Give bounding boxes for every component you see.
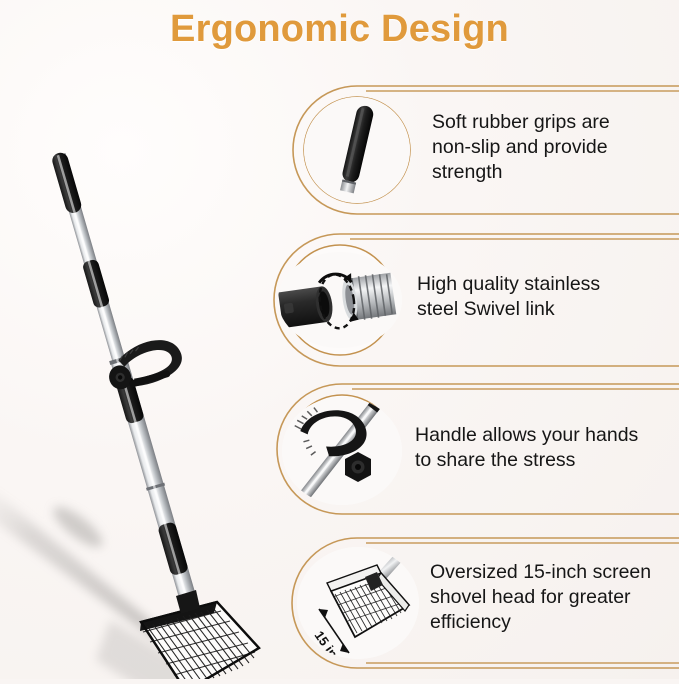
product-shadow: [0, 480, 162, 645]
stainless-swivel-link-photo: [278, 252, 402, 348]
page-title: Ergonomic Design: [0, 8, 679, 51]
feature-list: Soft rubber grips are non-slip and provi…: [262, 60, 679, 679]
feature-row-soft-rubber-grips: Soft rubber grips are non-slip and provi…: [262, 72, 679, 222]
screen-shovel-head-photo: 15 inch: [297, 547, 419, 659]
feature-text-share-stress-handle: Handle allows your hands to share the st…: [415, 423, 670, 473]
feature-text-oversized-screen-head: Oversized 15-inch screen shovel head for…: [430, 560, 679, 635]
product-hero-image: [0, 60, 300, 679]
feature-text-swivel-link: High quality stainless steel Swivel link: [417, 272, 667, 322]
feature-row-swivel-link: High quality stainless steel Swivel link: [262, 222, 679, 375]
feature-row-share-stress-handle: Handle allows your hands to share the st…: [262, 375, 679, 525]
feature-text-soft-rubber-grips: Soft rubber grips are non-slip and provi…: [432, 110, 672, 185]
feature-row-oversized-screen-head: 15 inch Oversized 15-inch screen shovel …: [262, 525, 679, 679]
d-grip-handle-photo: [282, 397, 402, 505]
rubber-grip-handle-photo: [304, 97, 410, 203]
infographic-canvas: Ergonomic Design: [0, 0, 679, 679]
